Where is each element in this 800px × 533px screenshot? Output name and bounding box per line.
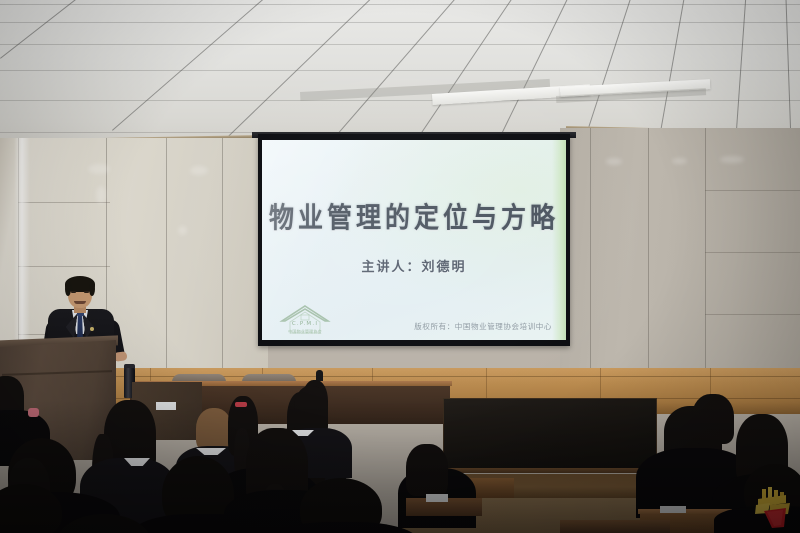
right-wall	[560, 128, 800, 390]
photo-watermark	[750, 481, 794, 529]
desk-paper	[426, 494, 448, 502]
attendee-hair	[406, 444, 448, 496]
desk-paper	[660, 506, 686, 513]
audience-desk	[560, 520, 670, 533]
attendee-hairclip	[235, 402, 247, 407]
lecture-hall-photo: 物业管理的定位与方略 主讲人：刘德明 C.P.M.I 中国物业管理协会 版权所有…	[0, 0, 800, 533]
slide-green-edge-tint	[552, 140, 566, 340]
cpmi-logo-subcaption: 中国物业管理协会	[276, 329, 334, 335]
slide-subtitle-speaker: 主讲人：刘德明	[262, 256, 566, 275]
slide-title: 物业管理的定位与方略	[262, 196, 566, 236]
cpmi-logo-caption: C.P.M.I	[276, 321, 334, 327]
presentation-slide: 物业管理的定位与方略 主讲人：刘德明 C.P.M.I 中国物业管理协会 版权所有…	[262, 140, 566, 340]
audience-seating	[0, 372, 800, 533]
presenter-lapel-badge	[90, 327, 94, 331]
desk-paper	[156, 402, 176, 410]
attendee-hair	[692, 394, 734, 444]
slide-copyright-footer: 版权所有：中国物业管理协会培训中心	[414, 321, 552, 332]
attendee-hairclip	[28, 408, 39, 417]
